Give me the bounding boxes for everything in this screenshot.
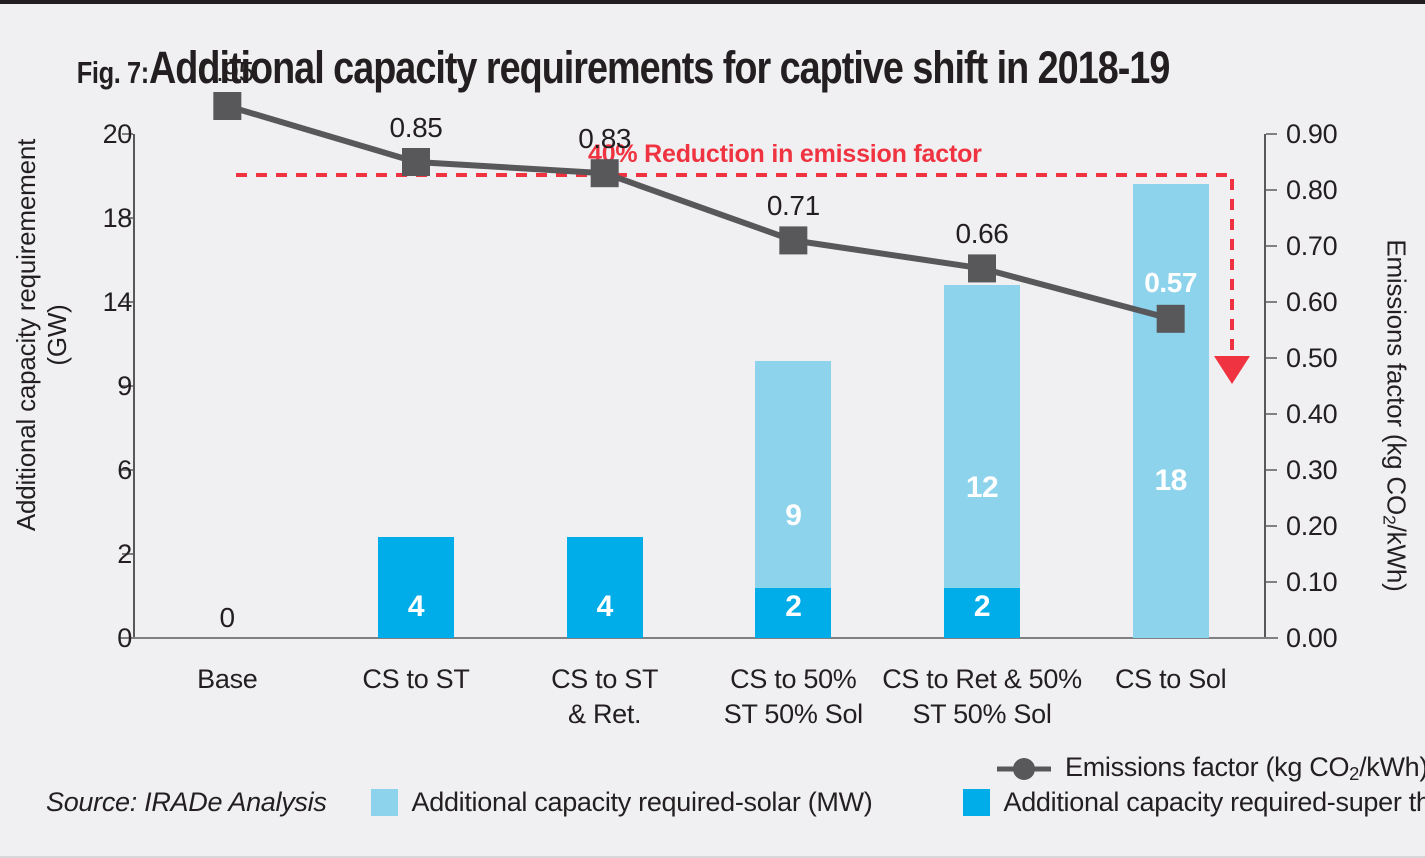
bar-value-label: 4 (567, 592, 643, 622)
emissions-factor-marker[interactable] (968, 254, 996, 282)
legend-emissions-factor[interactable]: Emissions factor (kg CO2/kWh) (995, 752, 1425, 785)
line-point-value-label: 0.71 (743, 192, 843, 220)
y-axis-right-tick (1266, 637, 1277, 639)
y-axis-right-tick (1266, 133, 1277, 135)
legend-item-solar[interactable]: Additional capacity required-solar (MW) (371, 787, 873, 818)
chart-figure: Fig. 7:Additional capacity requirements … (0, 0, 1425, 858)
figure-title-text: Additional capacity requirements for cap… (149, 42, 1169, 94)
y-axis-left-tick-label: 20 (103, 121, 132, 148)
y-axis-left-tick-label: 18 (103, 205, 132, 232)
bar-segment-super-thermal[interactable]: 4 (378, 537, 454, 638)
y-axis-right-tick-label: 0.50 (1286, 345, 1337, 372)
line-point-value-label: 0.83 (555, 125, 655, 153)
y-axis-right-tick-label: 0.40 (1286, 401, 1337, 428)
legend-item-super-thermal[interactable]: Additional capacity required-super therm… (963, 787, 1425, 818)
line-point-value-label: 0.85 (366, 114, 466, 142)
x-axis-line (120, 637, 1278, 639)
bar-segment-super-thermal[interactable]: 2 (944, 588, 1020, 638)
bar-value-label: 2 (755, 592, 831, 622)
bar-segment-solar[interactable]: 9 (755, 361, 831, 588)
y-axis-right-title: Emissions factor (kg CO2/kWh) (1379, 175, 1412, 655)
bar-value-label: 4 (378, 592, 454, 622)
y-axis-right-tick-label: 0.60 (1286, 289, 1337, 316)
y-axis-right-tick (1266, 525, 1277, 527)
y-axis-left-tick-label: 9 (117, 373, 132, 400)
y-axis-right-tick-label: 0.80 (1286, 177, 1337, 204)
bar-value-label: 9 (755, 501, 831, 531)
emissions-factor-marker[interactable] (213, 92, 241, 120)
x-axis-category-label: CS to Sol (1056, 662, 1286, 697)
y-axis-right-tick (1266, 581, 1277, 583)
bar-value-label: 12 (944, 473, 1020, 503)
y-axis-left-tick-label: 6 (117, 457, 132, 484)
bar-segment-super-thermal[interactable]: 2 (755, 588, 831, 638)
y-axis-right-line (1264, 134, 1266, 638)
legend-row: Source: IRADe Analysis Additional capaci… (46, 787, 1405, 818)
y-axis-right-tick-label: 0.10 (1286, 569, 1337, 596)
y-axis-right-tick-label: 0.70 (1286, 233, 1337, 260)
bar-value-label: 2 (944, 592, 1020, 622)
y-axis-left-tick-label: 14 (103, 289, 132, 316)
y-axis-right-tick (1266, 245, 1277, 247)
y-axis-right-tick-label: 0.20 (1286, 513, 1337, 540)
x-axis-category-line: CS to Sol (1056, 662, 1286, 697)
bar-segment-solar[interactable]: 12 (944, 285, 1020, 587)
y-axis-left-tick-label: 2 (117, 541, 132, 568)
legend-line-marker-icon (995, 756, 1053, 782)
y-axis-right-tick-label: 0.00 (1286, 625, 1337, 652)
x-axis-category-line: ST 50% Sol (867, 697, 1097, 732)
y-axis-right-tick (1266, 301, 1277, 303)
legend-swatch-super-thermal (963, 789, 990, 816)
emissions-factor-marker[interactable] (402, 148, 430, 176)
y-axis-left-line (133, 134, 135, 638)
legend-emissions-factor-label: Emissions factor (kg CO2/kWh) (1065, 752, 1425, 785)
legend-label-solar: Additional capacity required-solar (MW) (412, 787, 873, 818)
y-axis-left-title: Additional capacity requiremement (GW) (11, 105, 73, 565)
bar-segment-super-thermal[interactable]: 4 (567, 537, 643, 638)
bar-segment-solar[interactable]: 18 (1133, 184, 1209, 638)
y-axis-right-tick (1266, 469, 1277, 471)
bar-zero-label: 0 (187, 604, 267, 632)
line-point-value-label: 0.95 (177, 58, 277, 86)
y-axis-left-tick-label: 0 (117, 625, 132, 652)
y-axis-right-tick-label: 0.90 (1286, 121, 1337, 148)
line-point-value-label: 0.57 (1121, 269, 1221, 297)
source-note: Source: IRADe Analysis (46, 787, 327, 818)
y-axis-right-tick (1266, 189, 1277, 191)
figure-number: Fig. 7: (77, 55, 149, 91)
y-axis-right-tick-label: 0.30 (1286, 457, 1337, 484)
legend-label-super-thermal: Additional capacity required-super therm… (1004, 787, 1425, 818)
emissions-factor-marker[interactable] (779, 226, 807, 254)
bar-value-label: 18 (1133, 466, 1209, 496)
y-axis-right-tick (1266, 413, 1277, 415)
line-point-value-label: 0.66 (932, 220, 1032, 248)
y-axis-right-tick (1266, 357, 1277, 359)
legend-swatch-solar (371, 789, 398, 816)
